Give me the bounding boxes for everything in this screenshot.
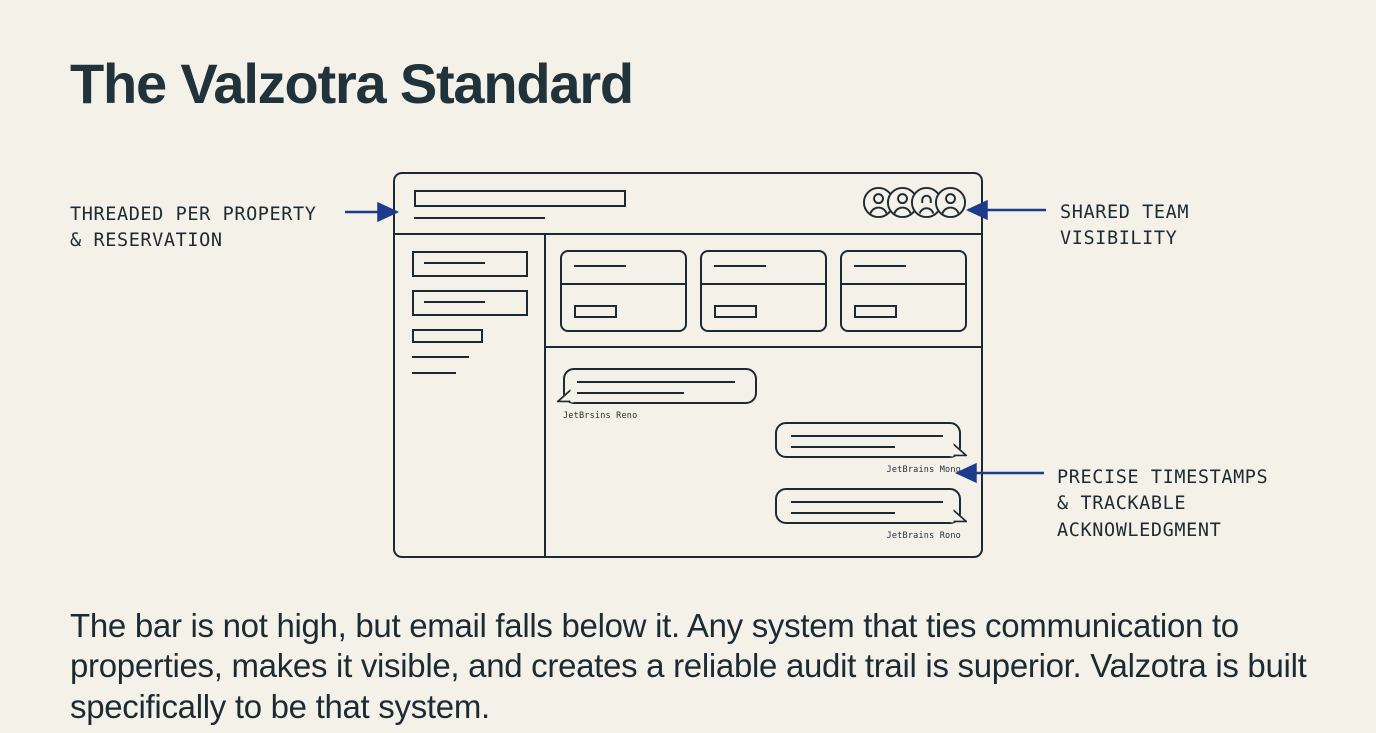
property-card[interactable] <box>840 250 967 332</box>
bubble-text-line <box>577 381 735 383</box>
bubble-text-line <box>791 512 895 514</box>
bubble-text-line <box>791 446 895 448</box>
card-divider <box>562 283 685 285</box>
chat-timestamp: JetBrsins Reno <box>563 411 757 421</box>
slide-root: The Valzotra Standard <box>0 0 1376 733</box>
chat-bubble[interactable] <box>775 422 961 458</box>
card-title-placeholder <box>854 265 906 267</box>
chat-timestamp: JetBrains Mono <box>775 465 961 475</box>
mockup-content: JetBrsins Reno JetBrains Mono <box>546 235 981 558</box>
card-row <box>546 235 981 348</box>
bubble-text-line <box>791 435 943 437</box>
annotation-precise-timestamps: PRECISE TIMESTAMPS & TRACKABLE ACKNOWLED… <box>1057 465 1268 544</box>
bubble-tail-left <box>556 387 573 404</box>
card-divider <box>842 283 965 285</box>
app-mockup-frame: JetBrsins Reno JetBrains Mono <box>393 172 983 558</box>
sidebar-item-line <box>412 372 456 374</box>
sidebar-item-chip[interactable] <box>412 329 483 343</box>
card-title-placeholder <box>574 265 626 267</box>
mockup-body: JetBrsins Reno JetBrains Mono <box>395 235 981 558</box>
bubble-text-line <box>791 501 943 503</box>
page-title: The Valzotra Standard <box>70 55 633 114</box>
chat-bubble[interactable] <box>775 488 961 524</box>
sidebar-item-line <box>412 356 469 358</box>
property-card[interactable] <box>560 250 687 332</box>
chat-message-outgoing: JetBrains Rono <box>775 488 961 541</box>
avatar-group <box>862 186 967 219</box>
property-card[interactable] <box>700 250 827 332</box>
bubble-text-line <box>577 392 684 394</box>
user-avatar-icon <box>934 186 967 219</box>
chat-pane: JetBrsins Reno JetBrains Mono <box>546 348 981 558</box>
card-status-badge <box>714 305 757 318</box>
annotation-shared-team-visibility: SHARED TEAM VISIBILITY <box>1060 200 1189 253</box>
mockup-header <box>395 174 981 235</box>
mockup-sidebar <box>395 235 546 558</box>
card-status-badge <box>574 305 617 318</box>
chat-message-incoming: JetBrsins Reno <box>563 368 757 421</box>
card-divider <box>702 283 825 285</box>
chat-bubble[interactable] <box>563 368 757 404</box>
chat-message-outgoing: JetBrains Mono <box>775 422 961 475</box>
header-subtitle-placeholder <box>414 217 545 219</box>
sidebar-item-thread[interactable] <box>412 290 528 316</box>
sidebar-item-thread[interactable] <box>412 251 528 277</box>
card-title-placeholder <box>714 265 766 267</box>
body-paragraph: The bar is not high, but email falls bel… <box>70 606 1310 727</box>
bubble-tail-right <box>951 441 968 458</box>
bubble-tail-right <box>951 507 968 524</box>
card-status-badge <box>854 305 897 318</box>
annotation-threaded-per-property: THREADED PER PROPERTY & RESERVATION <box>70 202 317 255</box>
header-title-placeholder <box>414 190 626 207</box>
chat-timestamp: JetBrains Rono <box>775 531 961 541</box>
